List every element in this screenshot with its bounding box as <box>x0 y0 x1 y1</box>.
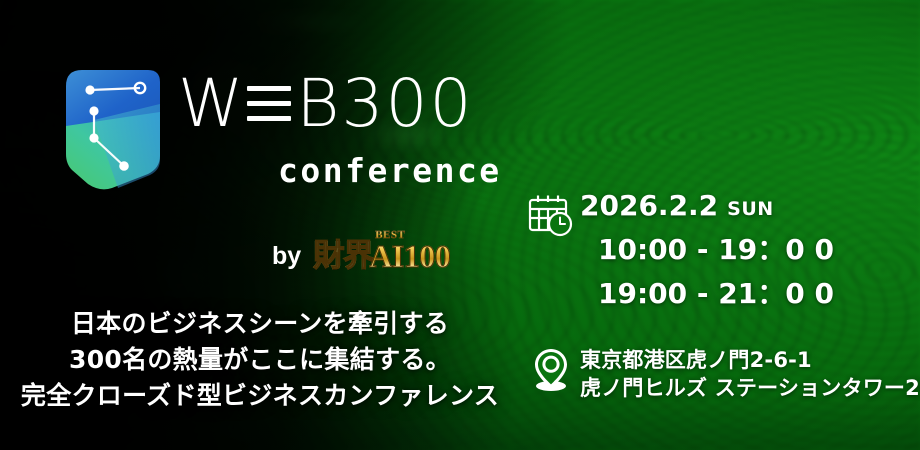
tagline-line-1: 日本のビジネスシーンを牽引する <box>0 306 520 342</box>
event-date: 2026.2.2 <box>580 192 718 220</box>
event-location-row: 東京都港区虎ノ門2-6-1 虎ノ門ヒルズ ステーションタワー20F <box>522 344 920 402</box>
event-day-of-week: SUN <box>727 200 774 219</box>
zaikai-label: 財界 <box>313 241 373 272</box>
wordmark: W B300 <box>178 58 473 150</box>
web300-logo-mark-icon <box>60 64 166 190</box>
address-line-2: 虎ノ門ヒルズ ステーションタワー20F <box>580 374 920 402</box>
tagline: 日本のビジネスシーンを牽引する 300名の熱量がここに集結する。 完全クローズド… <box>0 306 520 414</box>
event-date-line: 2026.2.2 SUN <box>580 192 834 220</box>
event-time-2: 19:00 - 21：0 0 <box>580 280 834 308</box>
wordmark-e-icon <box>247 80 291 128</box>
logo-subtitle: conference <box>278 151 502 190</box>
event-banner: W B300 conference by 財界 BEST AI100 日本のビジ… <box>0 0 920 450</box>
by-label: by <box>272 244 301 272</box>
map-pin-icon <box>522 344 580 392</box>
address-text-block: 東京都港区虎ノ門2-6-1 虎ノ門ヒルズ ステーションタワー20F <box>580 344 920 402</box>
tagline-line-2: 300名の熱量がここに集結する。 <box>0 342 520 378</box>
event-date-row: 2026.2.2 SUN 10:00 - 19：0 0 19:00 - 21：0… <box>522 192 834 308</box>
wordmark-w: W <box>178 71 245 137</box>
logo-lockup: W B300 conference <box>60 58 500 208</box>
event-time-1: 10:00 - 19：0 0 <box>580 236 834 264</box>
date-text-block: 2026.2.2 SUN 10:00 - 19：0 0 19:00 - 21：0… <box>580 192 834 308</box>
byline: by 財界 BEST AI100 <box>272 240 450 272</box>
tagline-line-3: 完全クローズド型ビジネスカンファレンス <box>0 378 520 414</box>
best-label: BEST <box>375 229 405 241</box>
banner-right-column: 2026.2.2 SUN 10:00 - 19：0 0 19:00 - 21：0… <box>518 0 920 450</box>
ai100-label: AI100 <box>369 238 450 274</box>
banner-left-column: W B300 conference by 財界 BEST AI100 日本のビジ… <box>0 0 520 450</box>
address-line-1: 東京都港区虎ノ門2-6-1 <box>580 346 920 374</box>
wordmark-b300: B300 <box>296 71 473 137</box>
calendar-clock-icon <box>522 192 580 238</box>
zaikai-ai100-logo: 財界 BEST AI100 <box>313 240 450 272</box>
